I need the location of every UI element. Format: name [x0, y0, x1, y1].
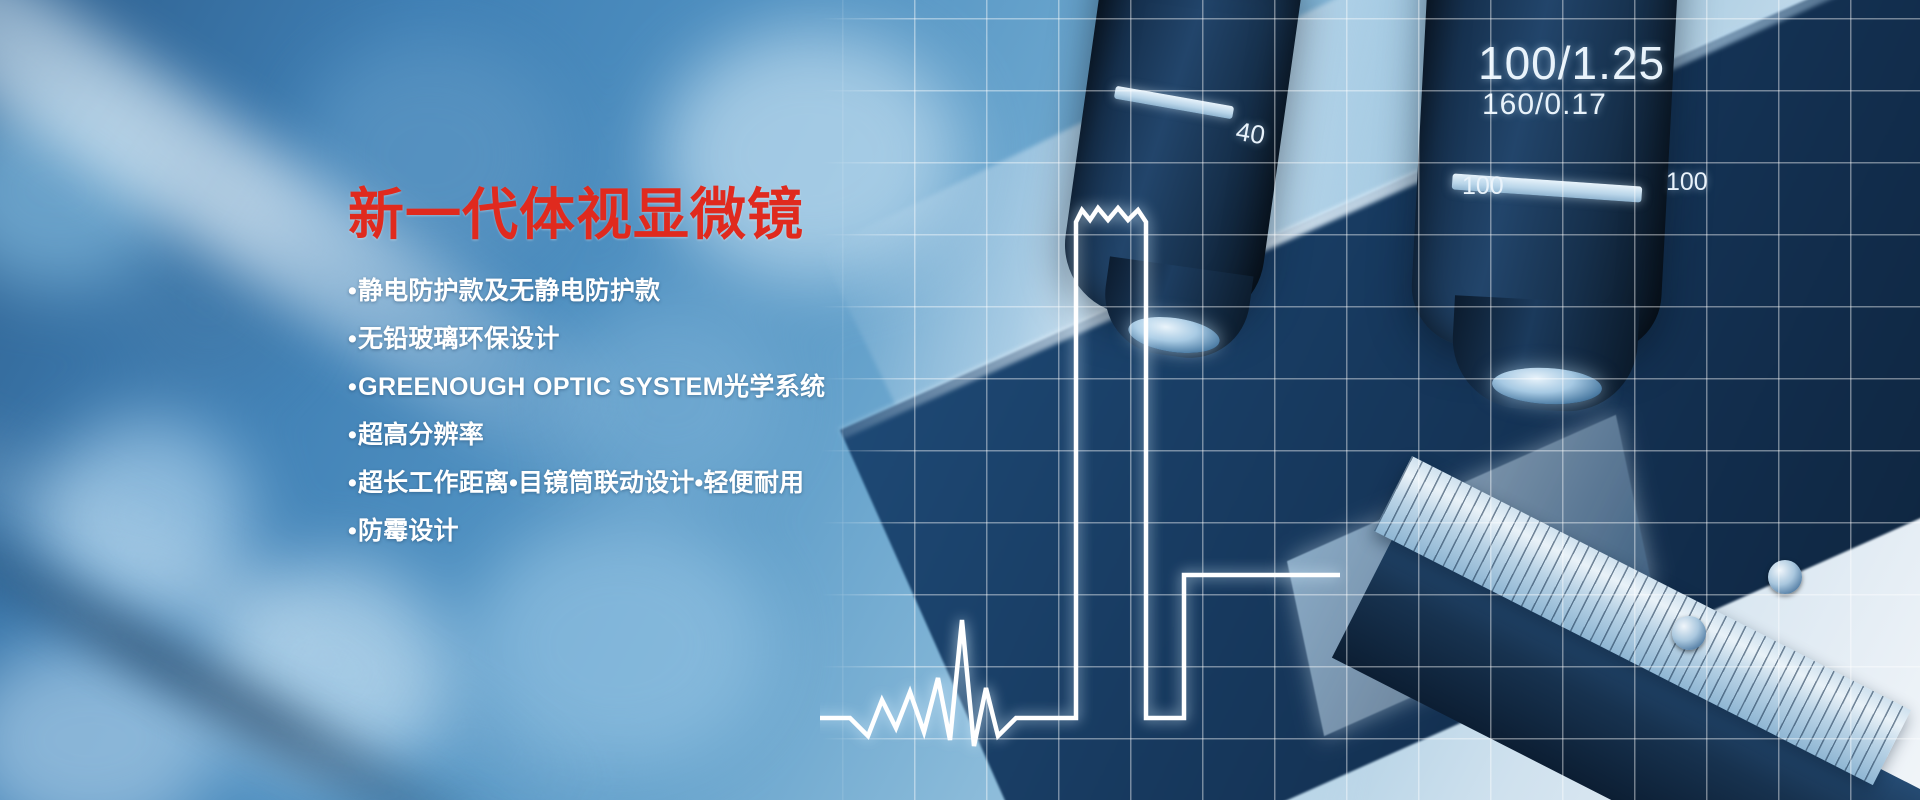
- list-item: •超高分辨率: [348, 423, 968, 448]
- objective-magnification-right-label: 100: [1666, 168, 1708, 197]
- microscope-promo-banner: 40 100/1.25 160/0.17 100 100 新一代体视显微镜 •静…: [0, 0, 1920, 800]
- bullet-marker-icon: •: [348, 469, 357, 497]
- list-item: •GREENOUGH OPTIC SYSTEM光学系统: [348, 375, 968, 400]
- list-item-label: 无铅玻璃环保设计: [358, 325, 560, 353]
- list-item-label: 静电防护款及无静电防护款: [358, 277, 660, 305]
- list-item-label: 超长工作距离•目镜筒联动设计•轻便耐用: [358, 469, 804, 497]
- objective-left-magnification-label: 40: [1234, 116, 1268, 152]
- list-item-label: 超高分辨率: [358, 421, 484, 449]
- bullet-marker-icon: •: [348, 325, 357, 353]
- bullet-marker-icon: •: [348, 277, 357, 305]
- list-item-label: GREENOUGH OPTIC SYSTEM光学系统: [358, 373, 825, 401]
- bullet-marker-icon: •: [348, 517, 357, 545]
- list-item-label: 防霉设计: [358, 517, 459, 545]
- feature-list: •静电防护款及无静电防护款 •无铅玻璃环保设计 •GREENOUGH OPTIC…: [348, 279, 968, 544]
- list-item: •无铅玻璃环保设计: [348, 327, 968, 352]
- copy-block: 新一代体视显微镜 •静电防护款及无静电防护款 •无铅玻璃环保设计 •GREENO…: [348, 186, 968, 567]
- bullet-marker-icon: •: [348, 373, 357, 401]
- bullet-marker-icon: •: [348, 421, 357, 449]
- objective-magnification-left-label: 100: [1462, 172, 1504, 201]
- page-title: 新一代体视显微镜: [348, 186, 968, 245]
- list-item: •超长工作距离•目镜筒联动设计•轻便耐用: [348, 471, 968, 496]
- stage-screw-lower: [1672, 616, 1706, 650]
- objective-aperture-label: 100/1.25: [1478, 36, 1665, 90]
- objective-tube-cover-label: 160/0.17: [1482, 88, 1607, 122]
- list-item: •静电防护款及无静电防护款: [348, 279, 968, 304]
- stage-screw-upper: [1768, 560, 1802, 594]
- list-item: •防霉设计: [348, 519, 968, 544]
